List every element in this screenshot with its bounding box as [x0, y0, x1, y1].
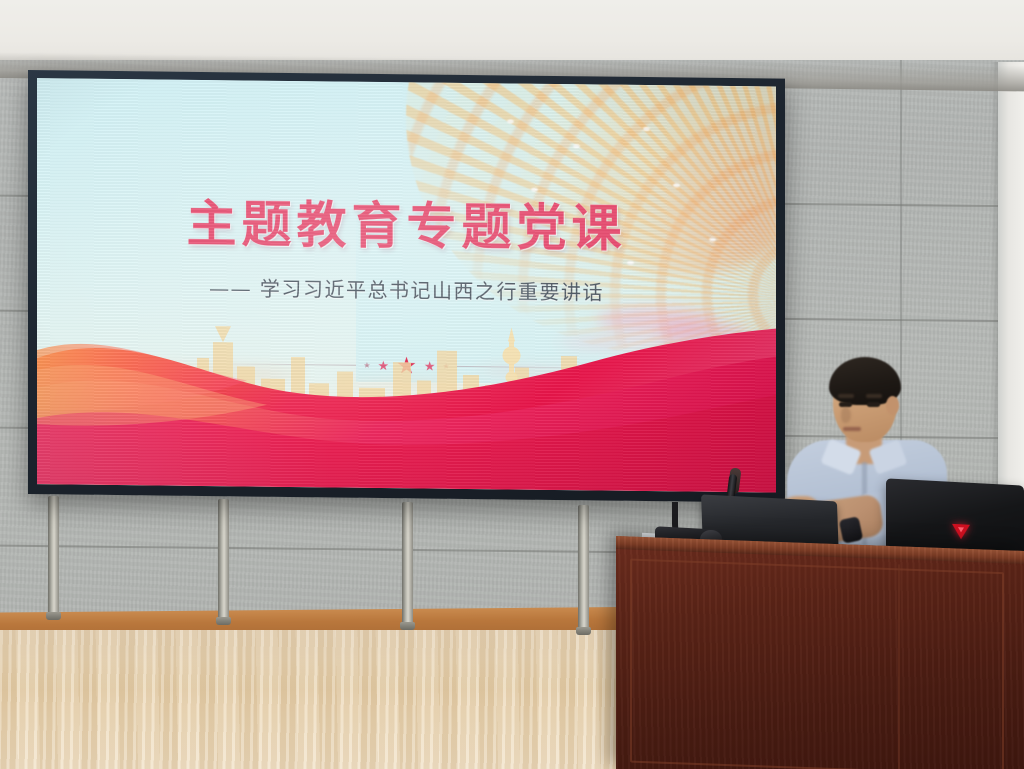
conference-room-scene: 主题教育专题党课 —— 学习习近平总书记山西之行重要讲话 ★ ★ ★ ★ ★ — [0, 0, 1024, 769]
podium-front-panel — [630, 559, 1004, 769]
display-leg — [48, 496, 59, 616]
sparkle-dot — [627, 261, 634, 265]
podium — [616, 536, 1024, 769]
led-wall-display[interactable]: 主题教育专题党课 —— 学习习近平总书记山西之行重要讲话 ★ ★ ★ ★ ★ — [28, 70, 785, 503]
sparkle-dot — [507, 119, 514, 123]
red-triangle-logo-inner-icon — [958, 527, 964, 532]
display-leg-foot — [576, 627, 591, 635]
slide-title: 主题教育专题党课 — [37, 182, 776, 262]
display-leg — [402, 502, 413, 626]
display-leg-foot — [400, 622, 415, 630]
display-leg — [218, 499, 229, 621]
display-panel: 主题教育专题党课 —— 学习习近平总书记山西之行重要讲话 ★ ★ ★ ★ ★ — [37, 78, 776, 492]
podium-panel-seam — [898, 564, 900, 769]
sparkle-dot — [573, 144, 580, 148]
presenter-eyebrow — [838, 394, 854, 398]
display-leg-foot — [216, 617, 231, 625]
display-leg-foot — [46, 612, 61, 620]
display-leg — [578, 505, 589, 631]
presenter-eye — [867, 402, 880, 407]
presenter-ear — [886, 396, 899, 415]
presenter-eyebrow — [866, 394, 882, 398]
presenter-nose — [841, 407, 851, 423]
sparkle-dot — [643, 127, 650, 131]
red-wave-graphic — [37, 284, 776, 492]
sparkle-dot — [673, 183, 680, 187]
presentation-slide: 主题教育专题党课 —— 学习习近平总书记山西之行重要讲话 ★ ★ ★ ★ ★ — [37, 78, 776, 492]
presenter-mouth — [843, 427, 861, 431]
